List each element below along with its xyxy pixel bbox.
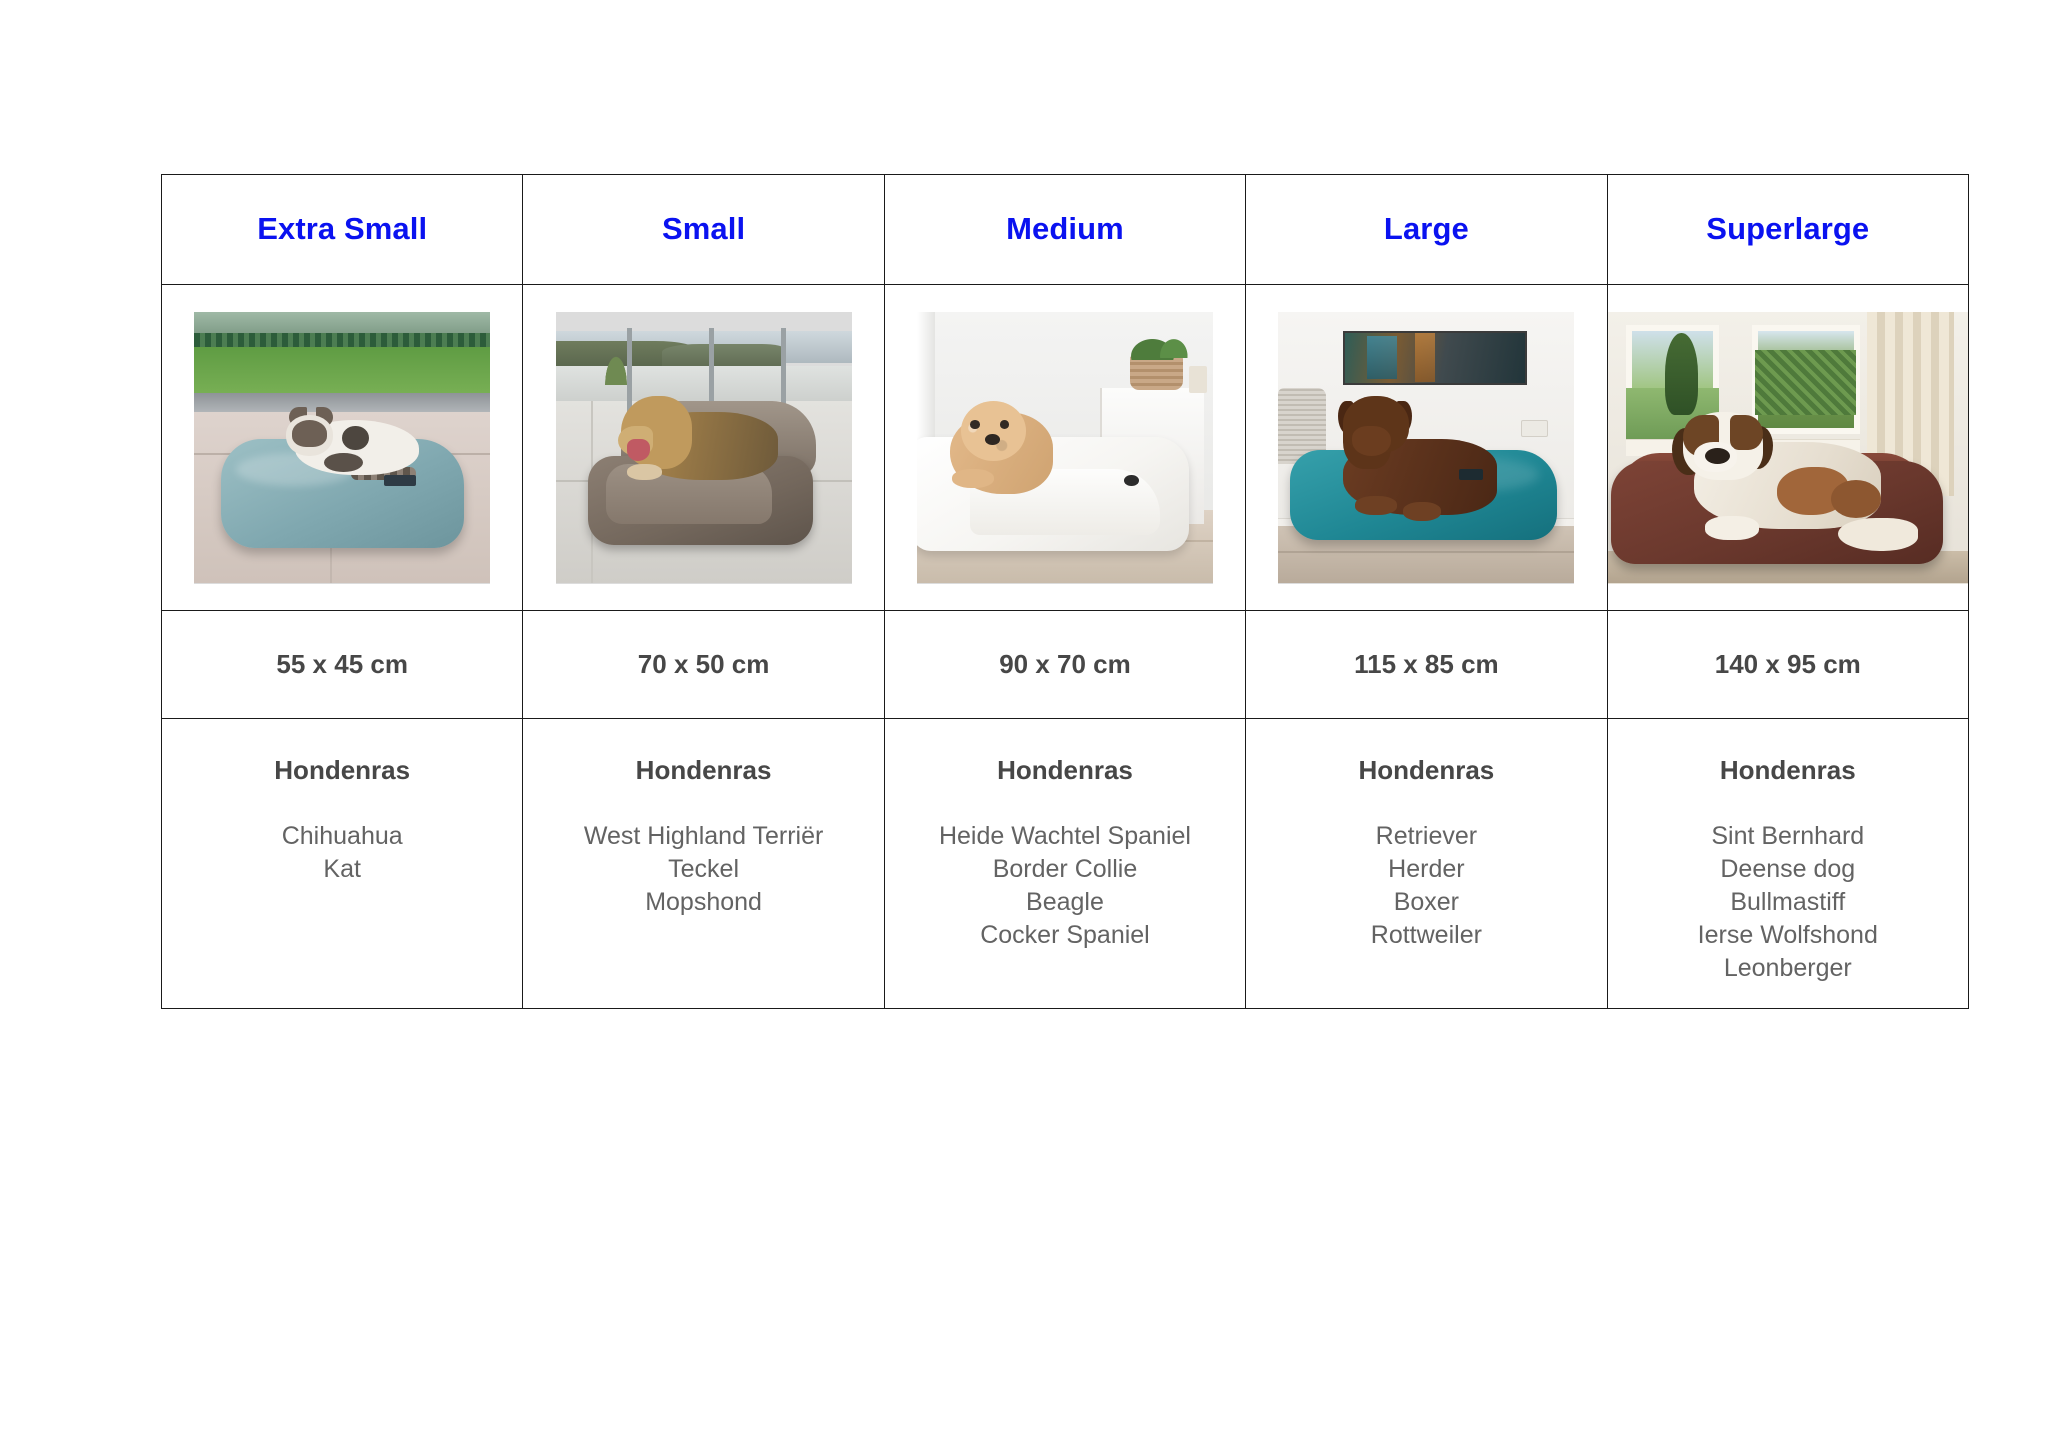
size-header-small: Small — [523, 212, 883, 246]
list-item: Boxer — [1246, 886, 1606, 919]
photo-cell-small — [523, 285, 884, 611]
list-item: Retriever — [1246, 820, 1606, 853]
breed-title-small: Hondenras — [523, 755, 883, 786]
list-item: Rottweiler — [1246, 919, 1606, 952]
header-cell-extra-small: Extra Small — [162, 175, 523, 285]
size-header-superlarge: Superlarge — [1608, 212, 1968, 246]
photo-cell-large — [1246, 285, 1607, 611]
list-item: Leonberger — [1608, 952, 1968, 985]
table-photo-row — [162, 285, 1969, 611]
photo-wrapper-superlarge — [1608, 285, 1968, 610]
header-cell-large: Large — [1246, 175, 1607, 285]
dimension-cell-extra-small: 55 x 45 cm — [162, 611, 523, 719]
header-cell-small: Small — [523, 175, 884, 285]
product-photo-superlarge — [1608, 312, 1968, 584]
table-header-row: Extra Small Small Medium Large Superlarg… — [162, 175, 1969, 285]
list-item: Deense dog — [1608, 853, 1968, 886]
breed-block-large: Hondenras Retriever Herder Boxer Rottwei… — [1246, 719, 1606, 952]
document-page: Extra Small Small Medium Large Superlarg… — [0, 0, 2048, 1448]
size-header-medium: Medium — [885, 212, 1245, 246]
table-breeds-row: Hondenras Chihuahua Kat Hondenras West H… — [162, 719, 1969, 1009]
list-item: Chihuahua — [162, 820, 522, 853]
breeds-cell-extra-small: Hondenras Chihuahua Kat — [162, 719, 523, 1009]
list-item: Beagle — [885, 886, 1245, 919]
dimension-large: 115 x 85 cm — [1246, 649, 1606, 680]
dimension-cell-medium: 90 x 70 cm — [884, 611, 1245, 719]
breed-title-medium: Hondenras — [885, 755, 1245, 786]
list-item: Mopshond — [523, 886, 883, 919]
photo-wrapper-large — [1246, 285, 1606, 610]
dimension-cell-superlarge: 140 x 95 cm — [1607, 611, 1968, 719]
dimension-cell-small: 70 x 50 cm — [523, 611, 884, 719]
breed-block-small: Hondenras West Highland Terriër Teckel M… — [523, 719, 883, 919]
breeds-cell-superlarge: Hondenras Sint Bernhard Deense dog Bullm… — [1607, 719, 1968, 1009]
breeds-cell-medium: Hondenras Heide Wachtel Spaniel Border C… — [884, 719, 1245, 1009]
breed-block-medium: Hondenras Heide Wachtel Spaniel Border C… — [885, 719, 1245, 952]
breed-block-superlarge: Hondenras Sint Bernhard Deense dog Bullm… — [1608, 719, 1968, 985]
breeds-cell-small: Hondenras West Highland Terriër Teckel M… — [523, 719, 884, 1009]
table-dimension-row: 55 x 45 cm 70 x 50 cm 90 x 70 cm 115 x 8… — [162, 611, 1969, 719]
list-item: Kat — [162, 853, 522, 886]
photo-wrapper-extra-small — [162, 285, 522, 610]
list-item: West Highland Terriër — [523, 820, 883, 853]
dimension-small: 70 x 50 cm — [523, 649, 883, 680]
photo-wrapper-medium — [885, 285, 1245, 610]
product-photo-large — [1278, 312, 1574, 584]
list-item: Cocker Spaniel — [885, 919, 1245, 952]
list-item: Teckel — [523, 853, 883, 886]
product-photo-small — [556, 312, 852, 584]
breed-title-extra-small: Hondenras — [162, 755, 522, 786]
dog-bed-size-table: Extra Small Small Medium Large Superlarg… — [161, 174, 1969, 1009]
list-item: Herder — [1246, 853, 1606, 886]
breeds-cell-large: Hondenras Retriever Herder Boxer Rottwei… — [1246, 719, 1607, 1009]
size-header-large: Large — [1246, 212, 1606, 246]
photo-cell-extra-small — [162, 285, 523, 611]
photo-cell-superlarge — [1607, 285, 1968, 611]
size-header-extra-small: Extra Small — [162, 212, 522, 246]
photo-cell-medium — [884, 285, 1245, 611]
dimension-cell-large: 115 x 85 cm — [1246, 611, 1607, 719]
breed-title-large: Hondenras — [1246, 755, 1606, 786]
list-item: Heide Wachtel Spaniel — [885, 820, 1245, 853]
product-photo-extra-small — [194, 312, 490, 584]
product-photo-medium — [917, 312, 1213, 584]
dimension-medium: 90 x 70 cm — [885, 649, 1245, 680]
breed-title-superlarge: Hondenras — [1608, 755, 1968, 786]
header-cell-medium: Medium — [884, 175, 1245, 285]
list-item: Bullmastiff — [1608, 886, 1968, 919]
list-item: Ierse Wolfshond — [1608, 919, 1968, 952]
dimension-extra-small: 55 x 45 cm — [162, 649, 522, 680]
list-item: Sint Bernhard — [1608, 820, 1968, 853]
list-item: Border Collie — [885, 853, 1245, 886]
photo-wrapper-small — [523, 285, 883, 610]
header-cell-superlarge: Superlarge — [1607, 175, 1968, 285]
breed-block-extra-small: Hondenras Chihuahua Kat — [162, 719, 522, 886]
dimension-superlarge: 140 x 95 cm — [1608, 649, 1968, 680]
